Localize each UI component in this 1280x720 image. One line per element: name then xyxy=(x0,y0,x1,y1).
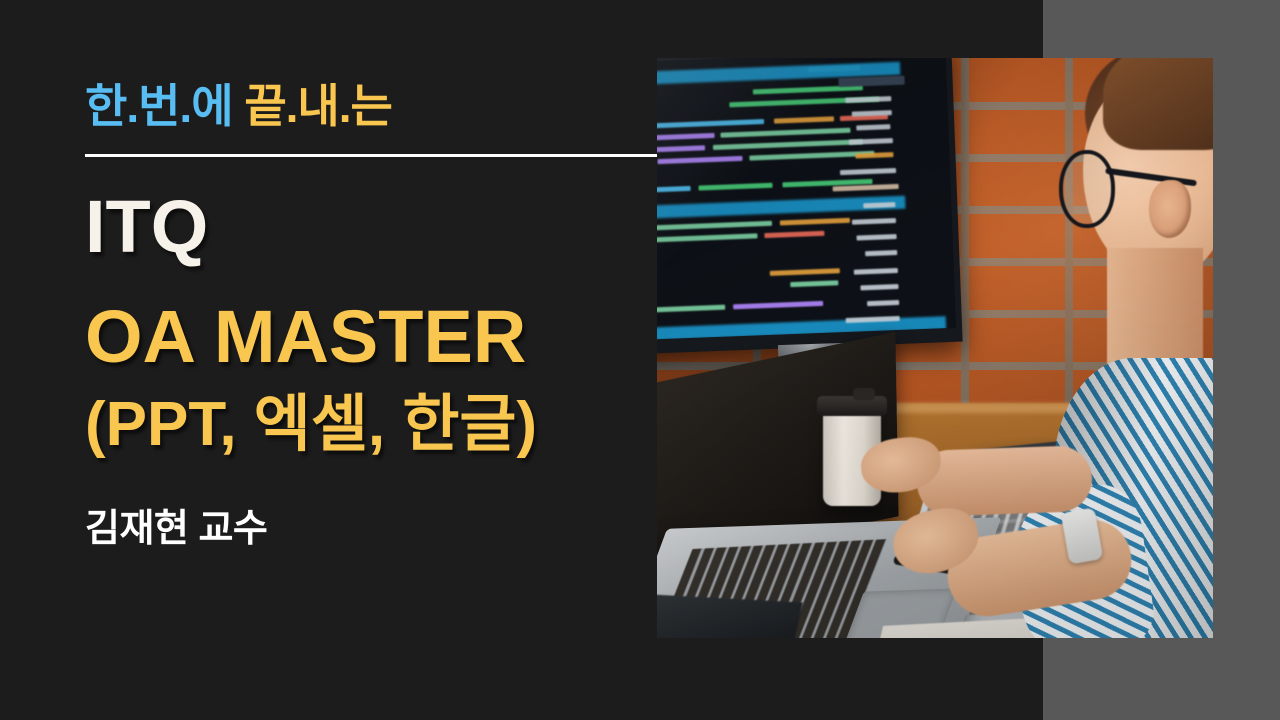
slide-root: 한.번.에 끝.내.는 ITQ OA MASTER (PPT, 엑셀, 한글) … xyxy=(0,0,1280,720)
forearm-far xyxy=(916,445,1093,517)
kicker-segment-yellow: 끝.내.는 xyxy=(244,80,392,132)
kicker-line: 한.번.에 끝.내.는 xyxy=(85,82,665,130)
hair-top xyxy=(1103,58,1213,150)
instructor-name: 김재현 교수 xyxy=(85,497,665,552)
glasses-lens xyxy=(1059,150,1115,228)
hero-photo xyxy=(657,58,1213,638)
kicker-space xyxy=(233,80,245,132)
monitor-glare xyxy=(657,58,963,354)
kicker-segment-blue: 한.번.에 xyxy=(85,80,233,132)
course-title-line3: (PPT, 엑셀, 한글) xyxy=(85,392,665,457)
course-title-line2: OA MASTER xyxy=(85,300,665,374)
person-at-desk xyxy=(957,58,1213,638)
coffee-cup-tab xyxy=(853,388,875,400)
course-title-line1: ITQ xyxy=(85,190,665,264)
coffee-cup-lid xyxy=(817,396,887,416)
desktop-monitor xyxy=(657,58,963,354)
horizontal-divider xyxy=(85,154,657,157)
title-text-block: 한.번.에 끝.내.는 ITQ OA MASTER (PPT, 엑셀, 한글) … xyxy=(85,60,665,552)
